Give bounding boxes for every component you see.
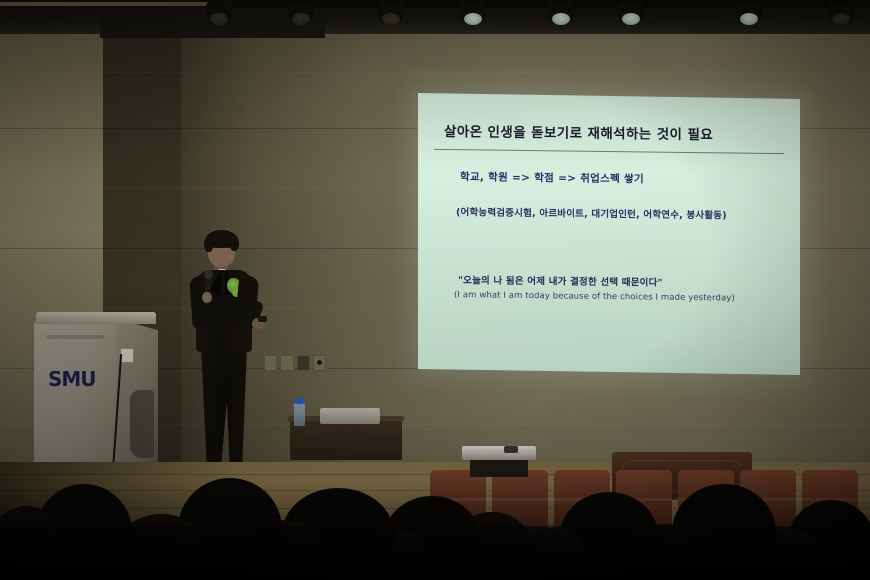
light-1-lens <box>210 13 228 25</box>
microphone-head <box>204 270 213 279</box>
light-8-lens <box>832 13 850 25</box>
audience-silhouettes <box>0 440 870 580</box>
light-2-icon <box>288 2 314 24</box>
wall-outlet-socket <box>313 355 326 371</box>
light-7-lens <box>740 13 758 25</box>
wall-switch-2 <box>280 355 293 371</box>
light-2-lens <box>292 13 310 25</box>
wall-switch-3 <box>297 355 310 371</box>
light-6-lens <box>622 13 640 25</box>
wall-seam-1 <box>0 72 870 73</box>
ceiling-edge <box>0 2 240 6</box>
water-bottle-cap <box>295 398 304 404</box>
light-4-lens <box>464 13 482 25</box>
light-1-icon <box>206 2 232 24</box>
slide-content: 살아온 인생을 돋보기로 재해석하는 것이 필요 학교, 학원 => 학점 =>… <box>418 94 800 375</box>
light-3-lens <box>382 13 400 25</box>
light-4-icon <box>460 2 486 24</box>
light-5-lens <box>552 13 570 25</box>
presentation-clicker <box>258 316 267 322</box>
light-5-icon <box>548 2 574 24</box>
light-6-icon <box>618 2 644 24</box>
slide-quote-english: (I am what I am today because of the cho… <box>454 290 735 303</box>
podium-logo-smu: SMU <box>48 367 96 391</box>
slide-bullet-path: 학교, 학원 => 학점 => 취업스펙 쌓기 <box>460 169 644 186</box>
audience-foreground-fill <box>0 526 870 580</box>
slide-bullet-detail: (어학능력검증시험, 아르바이트, 대기업인턴, 어학연수, 봉사활동) <box>456 204 727 221</box>
podium-top-surface <box>36 312 156 324</box>
light-7-icon <box>736 2 762 24</box>
podium-wall-plate <box>120 348 134 363</box>
presenter-hair-side-right <box>230 235 239 251</box>
presenter-hair-side-left <box>204 236 213 252</box>
light-8-icon <box>828 2 854 24</box>
podium-groove <box>46 335 104 339</box>
slide-title-rule <box>434 149 784 154</box>
projection-screen: 살아온 인생을 돋보기로 재해석하는 것이 필요 학교, 학원 => 학점 =>… <box>418 93 800 375</box>
laptop-device <box>320 408 380 424</box>
slide-title: 살아온 인생을 돋보기로 재해석하는 것이 필요 <box>444 120 784 144</box>
auditorium-photo: 살아온 인생을 돋보기로 재해석하는 것이 필요 학교, 학원 => 학점 =>… <box>0 0 870 580</box>
slide-quote-korean: "오늘의 나 됨은 어제 내가 결정한 선택 때문이다" <box>458 272 663 289</box>
water-bottle <box>294 402 305 426</box>
presenter-hand-left <box>202 292 212 303</box>
light-3-icon <box>378 2 404 24</box>
